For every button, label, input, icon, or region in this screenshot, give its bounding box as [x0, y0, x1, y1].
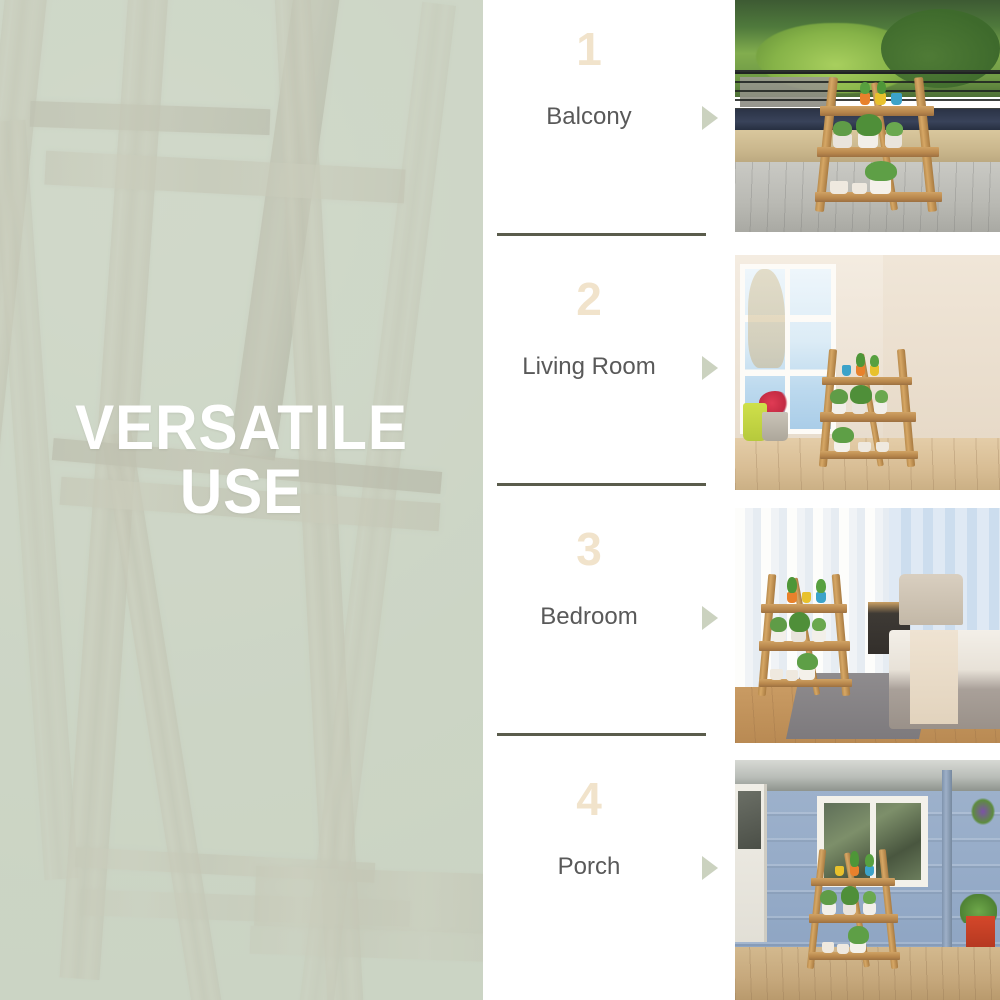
list-item[interactable]: 2 Living Room: [483, 250, 1000, 500]
pot: [835, 866, 844, 877]
plant: [833, 121, 852, 136]
bedroom-scene: [735, 508, 1000, 743]
triangle-right-icon: [702, 106, 718, 130]
plant-stand: [809, 849, 902, 969]
list-item[interactable]: 1 Balcony: [483, 0, 1000, 250]
balcony-scene: [735, 0, 1000, 232]
pot: [850, 866, 859, 877]
plant: [797, 653, 818, 670]
plant: [877, 81, 886, 94]
pot: [816, 592, 826, 603]
plant-stand: [820, 349, 921, 467]
list-item-label: Porch: [483, 853, 695, 882]
plant: [850, 385, 872, 404]
stand-shelf: [817, 147, 939, 158]
list-item-thumbnail[interactable]: [735, 255, 1000, 490]
list-item-number: 3: [483, 526, 695, 572]
list-item-label: Living Room: [483, 353, 695, 382]
throw-blanket: [910, 630, 958, 724]
list-item-text: 4 Porch: [483, 750, 735, 1000]
triangle-right-icon: [702, 356, 718, 380]
list-divider: [497, 733, 706, 736]
outdoor-tree: [748, 269, 785, 368]
plant: [875, 390, 888, 403]
plant: [850, 851, 859, 867]
stand-shelf: [809, 952, 900, 960]
stand-shelf: [811, 878, 894, 886]
pot: [852, 183, 868, 194]
pot: [830, 181, 847, 193]
list-divider: [497, 483, 706, 486]
door-glass: [738, 791, 762, 849]
pot: [870, 179, 891, 194]
list-item[interactable]: 4 Porch: [483, 750, 1000, 1000]
triangle-right-icon: [702, 856, 718, 880]
triangle-right-icon: [702, 606, 718, 630]
stand-leg: [897, 349, 915, 467]
stand-shelf: [820, 412, 917, 421]
list-item-number: 4: [483, 776, 695, 822]
pot: [875, 93, 886, 105]
stand-shelf: [761, 604, 847, 613]
pot: [837, 944, 849, 955]
plant: [812, 618, 825, 631]
plant-stand: [759, 574, 854, 696]
stand-shelf: [809, 914, 898, 924]
use-case-list: 1 Balcony: [483, 0, 1000, 1000]
plant: [886, 122, 903, 135]
plant: [789, 612, 810, 633]
stand-leg: [913, 76, 936, 211]
pot: [874, 402, 887, 414]
stand-shelf: [822, 377, 913, 385]
pot: [770, 669, 782, 680]
plant: [787, 577, 797, 593]
stand-shelf: [759, 641, 851, 651]
pot: [787, 592, 797, 603]
list-item-label: Balcony: [483, 103, 695, 132]
stand-leg: [879, 849, 899, 969]
pot: [865, 866, 874, 877]
armchair: [899, 574, 963, 626]
pot: [858, 442, 871, 453]
pot: [822, 942, 834, 953]
stand-shelf: [820, 451, 919, 459]
pot: [891, 93, 902, 105]
plant: [865, 161, 897, 181]
page-title: VERSATILE USE: [17, 396, 466, 525]
porch-roof: [735, 760, 1000, 791]
plant: [816, 579, 826, 594]
plant: [830, 389, 848, 404]
porch-scene: [735, 760, 1000, 1000]
plant: [770, 617, 787, 633]
pot: [786, 670, 798, 681]
plant: [841, 886, 860, 905]
hero-panel: VERSATILE USE: [0, 0, 483, 1000]
stand-shelf: [759, 679, 852, 688]
list-item-text: 2 Living Room: [483, 250, 735, 500]
pot: [885, 134, 902, 147]
pot: [802, 592, 812, 603]
plant: [860, 82, 871, 94]
list-divider: [497, 233, 706, 236]
list-item-text: 3 Bedroom: [483, 500, 735, 750]
pot: [833, 134, 852, 147]
plant: [863, 891, 876, 904]
planter: [966, 916, 995, 947]
plant-stand: [815, 77, 948, 212]
list-item-label: Bedroom: [483, 603, 695, 632]
living-room-scene: [735, 255, 1000, 490]
plant: [865, 854, 874, 867]
pot: [870, 365, 879, 376]
plant: [856, 114, 883, 136]
pot: [856, 365, 865, 376]
hero-title-line-2: USE: [17, 460, 466, 524]
stand-shelf: [815, 192, 942, 201]
plant: [832, 427, 854, 443]
pot: [842, 365, 851, 376]
pot: [876, 442, 889, 453]
list-item-number: 2: [483, 276, 695, 322]
list-item[interactable]: 3 Bedroom: [483, 500, 1000, 750]
hero-title-line-1: VERSATILE: [75, 393, 408, 463]
pot: [860, 93, 871, 105]
pot: [812, 630, 825, 642]
plant: [870, 355, 879, 367]
list-item-text: 1 Balcony: [483, 0, 735, 250]
list-item-thumbnail[interactable]: [735, 508, 1000, 743]
pot: [863, 903, 876, 915]
product-feature-banner: VERSATILE USE 1 Balcony: [0, 0, 1000, 1000]
plant: [820, 890, 837, 906]
planter: [762, 412, 789, 440]
stand-shelf: [820, 106, 934, 115]
list-item-thumbnail[interactable]: [735, 0, 1000, 232]
plant: [848, 926, 868, 944]
list-item-thumbnail[interactable]: [735, 760, 1000, 1000]
list-item-number: 1: [483, 26, 695, 72]
plant: [856, 353, 865, 367]
stand-leg: [832, 574, 850, 696]
hanging-basket: [971, 798, 995, 824]
porch-post: [942, 770, 953, 967]
